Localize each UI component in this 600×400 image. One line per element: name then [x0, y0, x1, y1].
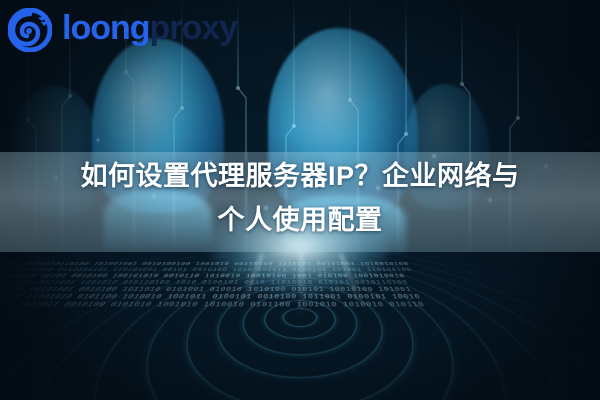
title-line-1: 如何设置代理服务器IP？企业网络与 [0, 154, 600, 198]
promo-banner: 1011001 0100010110100 101001001 00101001… [0, 0, 600, 400]
dragon-swirl-logo-icon[interactable] [8, 8, 52, 52]
title-line-2: 个人使用配置 [0, 198, 600, 242]
brand-wordmark[interactable]: loongproxy [62, 6, 237, 50]
brand-header: loongproxy [0, 0, 600, 58]
brand-name-primary: loong [62, 9, 150, 48]
banner-title: 如何设置代理服务器IP？企业网络与 个人使用配置 [0, 154, 600, 242]
brand-name-secondary: proxy [150, 9, 238, 48]
